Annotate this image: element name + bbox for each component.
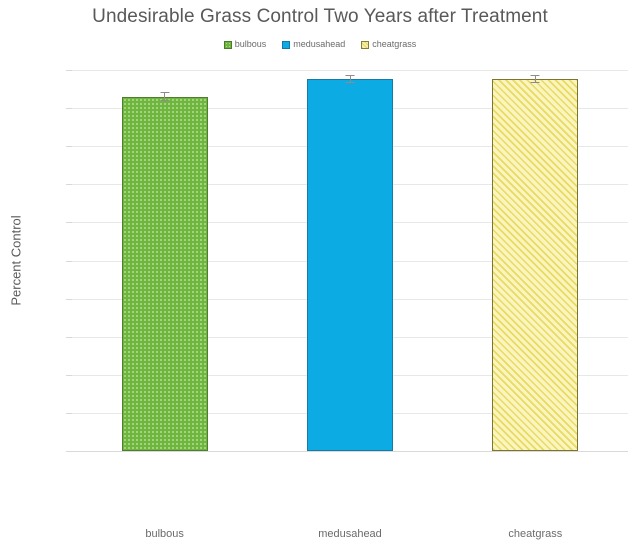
bar-chart: Undesirable Grass Control Two Years afte… <box>0 0 640 480</box>
legend-label: medusahead <box>293 40 345 49</box>
error-bar-bulbous <box>160 92 169 101</box>
x-axis-tick-label: medusahead <box>280 528 420 540</box>
legend-swatch-icon <box>282 41 290 49</box>
y-axis-title: Percent Control <box>8 70 24 451</box>
bar-group <box>307 70 393 451</box>
y-axis-tick-mark <box>66 108 72 109</box>
error-bar-cheatgrass <box>531 75 540 83</box>
error-bar-medusahead <box>346 75 355 83</box>
chart-title: Undesirable Grass Control Two Years afte… <box>0 6 640 28</box>
legend-item-bulbous[interactable]: bulbous <box>224 40 267 49</box>
legend-label: cheatgrass <box>372 40 416 49</box>
y-axis-tick-mark <box>66 413 72 414</box>
y-axis-tick-mark <box>66 451 72 452</box>
y-axis-title-label: Percent Control <box>9 215 24 305</box>
legend-label: bulbous <box>235 40 267 49</box>
legend-item-medusahead[interactable]: medusahead <box>282 40 345 49</box>
error-bar-cap-top <box>160 92 169 93</box>
x-axis-tick-label: bulbous <box>95 528 235 540</box>
y-axis-tick-mark <box>66 375 72 376</box>
error-bar-cap-bottom <box>160 100 169 101</box>
legend-item-cheatgrass[interactable]: cheatgrass <box>361 40 416 49</box>
bar-group <box>122 70 208 451</box>
legend-swatch-icon <box>224 41 232 49</box>
error-bar-cap-bottom <box>346 82 355 83</box>
y-axis-tick-mark <box>66 184 72 185</box>
bar-group <box>492 70 578 451</box>
bar-medusahead[interactable] <box>307 79 393 451</box>
bar-bulbous[interactable] <box>122 97 208 451</box>
y-axis-tick-mark <box>66 261 72 262</box>
y-axis-tick-mark <box>66 337 72 338</box>
legend-swatch-icon <box>361 41 369 49</box>
y-axis-tick-mark <box>66 146 72 147</box>
y-axis-tick-mark <box>66 70 72 71</box>
bar-cheatgrass[interactable] <box>492 79 578 451</box>
x-axis-tick-label: cheatgrass <box>465 528 605 540</box>
plot-area: 1009080706050403020100bulbousmedusaheadc… <box>72 70 628 451</box>
error-bar-cap-bottom <box>531 82 540 83</box>
gridline <box>72 451 628 452</box>
error-bar-cap-top <box>531 75 540 76</box>
y-axis-tick-mark <box>66 299 72 300</box>
error-bar-cap-top <box>346 75 355 76</box>
chart-legend: bulbous medusahead cheatgrass <box>0 40 640 49</box>
y-axis-tick-mark <box>66 222 72 223</box>
